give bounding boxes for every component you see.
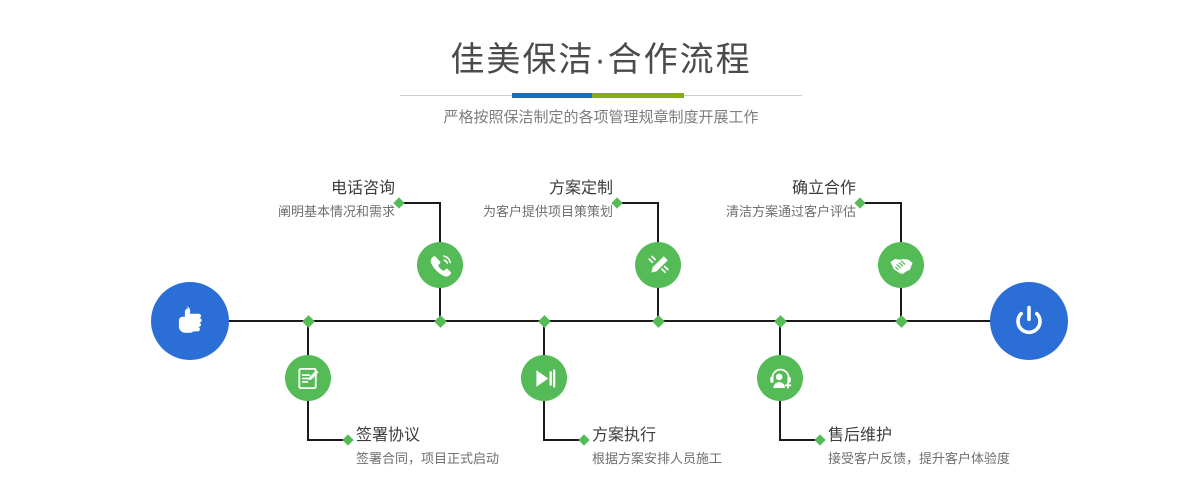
divider-segment-blue <box>512 93 592 98</box>
step-icon-customer-service <box>757 355 803 401</box>
axis-marker-step-4 <box>538 315 551 328</box>
axis-marker-step-5 <box>895 315 908 328</box>
flow-end-node <box>990 282 1068 360</box>
label-marker-step-2 <box>342 434 353 445</box>
header-block: 佳美保洁·合作流程 严格按照保洁制定的各项管理规章制度开展工作 <box>0 0 1202 140</box>
title-divider <box>400 93 802 98</box>
axis-marker-step-6 <box>774 315 787 328</box>
pencil-design-icon <box>645 252 672 279</box>
cooperation-flow-infographic: 佳美保洁·合作流程 严格按照保洁制定的各项管理规章制度开展工作 <box>0 0 1202 502</box>
customer-service-icon <box>767 365 794 392</box>
document-edit-icon <box>295 365 322 392</box>
power-icon <box>1007 299 1051 343</box>
step-title-6: 售后维护 <box>828 425 1188 447</box>
step-icon-phone-call <box>417 242 463 288</box>
phone-call-icon <box>427 252 454 279</box>
step-icon-pencil-design <box>635 242 681 288</box>
step-desc-6: 接受客户反馈，提升客户体验度 <box>828 449 1188 469</box>
step-desc-5: 清洁方案通过客户评估 <box>600 202 856 222</box>
step-icon-handshake <box>878 242 924 288</box>
step-icon-play-execute <box>521 355 567 401</box>
axis-marker-step-3 <box>652 315 665 328</box>
flow-start-node <box>151 282 229 360</box>
page-subtitle: 严格按照保洁制定的各项管理规章制度开展工作 <box>0 107 1202 129</box>
step-icon-document-edit <box>285 355 331 401</box>
pointing-hand-icon <box>168 299 212 343</box>
handshake-icon <box>888 252 915 279</box>
step-label-5: 确立合作 清洁方案通过客户评估 <box>600 178 856 222</box>
flow-diagram: 电话咨询 阐明基本情况和需求 签署协议 签署合同，项目正式启动 <box>0 140 1202 502</box>
connector-horizontal-step-5 <box>860 202 901 204</box>
axis-marker-step-2 <box>302 315 315 328</box>
step-title-3: 方案定制 <box>357 178 613 200</box>
step-title-5: 确立合作 <box>600 178 856 200</box>
divider-segment-green <box>592 93 684 98</box>
step-label-6: 售后维护 接受客户反馈，提升客户体验度 <box>828 425 1188 469</box>
label-marker-step-5 <box>854 197 865 208</box>
play-execute-icon <box>531 365 558 392</box>
axis-marker-step-1 <box>434 315 447 328</box>
page-title: 佳美保洁·合作流程 <box>0 38 1202 82</box>
